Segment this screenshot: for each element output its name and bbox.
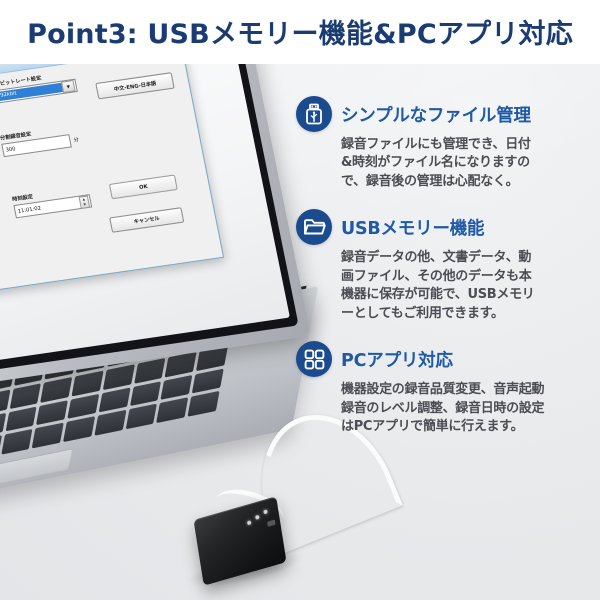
feature-list: シンプルなファイル管理 録音ファイルにも管理でき、日付 &時刻がファイル名になり… [296, 96, 588, 455]
feature-item: PCアプリ対応 機器設定の録音品質変更、音声起動 録音のレベル調整、録音日時の設… [296, 341, 588, 436]
field-time: 時刻設定 11:01:02 ▲ ▼ [12, 185, 93, 218]
field-bitrate: 録音ビットレート設定 192kbit ▼ [0, 69, 78, 104]
feature-title: PCアプリ対応 [341, 347, 453, 372]
feature-body-line: 画ファイル、その他のデータも本 [341, 268, 588, 286]
feature-body-line: はPCアプリで簡単に行えます。 [341, 418, 588, 436]
feature-body-line: 録音データの他、文書データ、動 [341, 249, 588, 267]
feature-body-line: で、録音後の管理は心配なく。 [341, 173, 588, 191]
feature-header: PCアプリ対応 [296, 341, 588, 377]
stepper-up-icon[interactable]: ▲ [82, 197, 85, 200]
laptop-photo: JNN録音設定ツール ✕ 音声自動検知設定 5 ▼ 録音ビットレート設定 192… [0, 40, 320, 470]
time-value: 11:01:02 [17, 205, 41, 214]
feature-body-line: &時刻がファイル名になりますの [341, 154, 588, 172]
feature-body: 録音データの他、文書データ、動 画ファイル、その他のデータも本 機器に保存が可能… [296, 249, 588, 323]
feature-body-line: 録音ファイルにも管理でき、日付 [341, 136, 588, 154]
usb-drive-icon [296, 96, 332, 132]
page-title: Point3: USBメモリー機能&PCアプリ対応 [0, 12, 600, 51]
stepper-down-icon[interactable]: ▼ [83, 203, 86, 206]
feature-body: 機器設定の録音品質変更、音声起動 録音のレベル調整、録音日時の設定 はPCアプリ… [296, 381, 588, 436]
folder-icon [296, 209, 332, 245]
feature-body: 録音ファイルにも管理でき、日付 &時刻がファイル名になりますの で、録音後の管理… [296, 136, 588, 191]
language-toggle-button[interactable]: 中文-ENG-日本語 [95, 72, 175, 99]
feature-item: USBメモリー機能 録音データの他、文書データ、動 画ファイル、その他のデータも… [296, 209, 588, 323]
feature-body-line: 録音のレベル調整、録音日時の設定 [341, 400, 588, 418]
feature-body-line: 機器に保存が可能で、USBメモリ [341, 286, 588, 304]
screenshot-root: JNN録音設定ツール ✕ 音声自動検知設定 5 ▼ 録音ビットレート設定 192… [0, 0, 600, 600]
chevron-down-icon[interactable]: ▼ [61, 80, 76, 93]
time-stepper[interactable]: ▲ ▼ [78, 195, 90, 209]
feature-item: シンプルなファイル管理 録音ファイルにも管理でき、日付 &時刻がファイル名になり… [296, 96, 588, 191]
split-unit-label: 分 [73, 136, 80, 144]
feature-header: USBメモリー機能 [296, 209, 588, 245]
feature-title: USBメモリー機能 [341, 215, 484, 240]
feature-title: シンプルなファイル管理 [341, 102, 531, 127]
feature-body-line: ーとしてもご利用できます。 [341, 305, 588, 323]
title-band: Point3: USBメモリー機能&PCアプリ対応 [0, 0, 600, 64]
ok-button[interactable]: OK [109, 174, 178, 199]
feature-header: シンプルなファイル管理 [296, 96, 588, 132]
cancel-button[interactable]: キャンセル [109, 207, 184, 233]
grid-apps-icon [296, 341, 332, 377]
field-split-recording: 分割録音設定 300 分 [0, 120, 103, 157]
feature-body-line: 機器設定の録音品質変更、音声起動 [341, 381, 588, 399]
split-value: 300 [5, 146, 16, 154]
